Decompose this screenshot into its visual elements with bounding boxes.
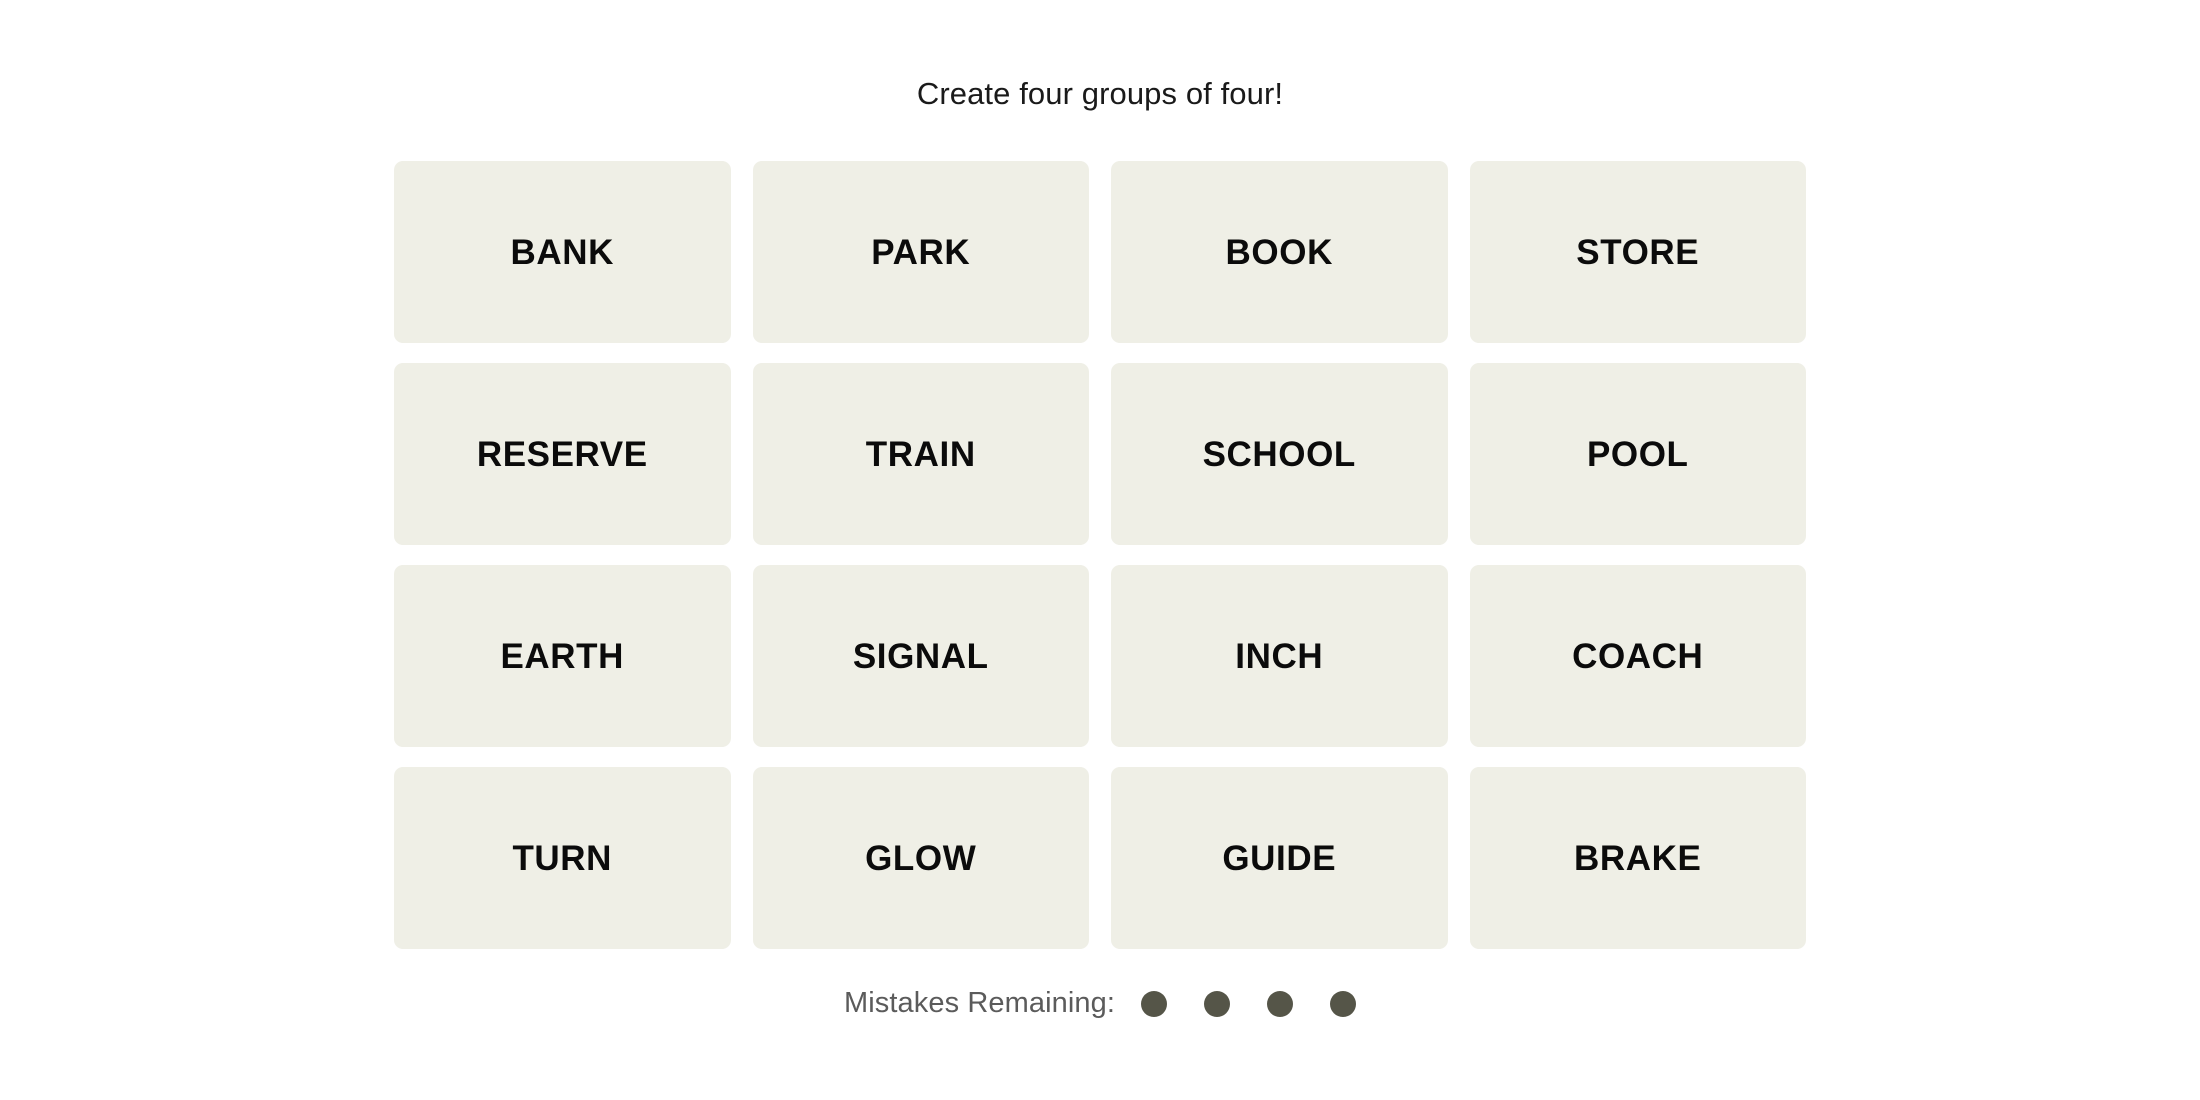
- word-tile[interactable]: EARTH: [394, 565, 731, 747]
- page-title: Create four groups of four!: [917, 78, 1283, 109]
- word-tile-label: BOOK: [1226, 235, 1333, 270]
- word-tile-label: PARK: [871, 235, 970, 270]
- word-tile[interactable]: TRAIN: [753, 363, 1090, 545]
- word-tile-label: SIGNAL: [853, 639, 989, 674]
- word-tile[interactable]: POOL: [1470, 363, 1807, 545]
- word-tile-label: TRAIN: [866, 437, 976, 472]
- word-tile-label: BRAKE: [1574, 841, 1701, 876]
- mistakes-remaining-bar: Mistakes Remaining:: [844, 989, 1356, 1018]
- word-tile-label: COACH: [1572, 639, 1703, 674]
- word-tile-label: GLOW: [865, 841, 976, 876]
- word-tile[interactable]: BRAKE: [1470, 767, 1807, 949]
- word-tile[interactable]: INCH: [1111, 565, 1448, 747]
- word-tile-label: EARTH: [500, 639, 624, 674]
- word-tile-label: BANK: [510, 235, 614, 270]
- word-tile[interactable]: PARK: [753, 161, 1090, 343]
- word-tile[interactable]: RESERVE: [394, 363, 731, 545]
- word-tile-label: GUIDE: [1222, 841, 1336, 876]
- word-tile-label: RESERVE: [477, 437, 648, 472]
- word-tile[interactable]: GLOW: [753, 767, 1090, 949]
- mistakes-dot-group: [1141, 991, 1356, 1017]
- word-tile-label: SCHOOL: [1203, 437, 1356, 472]
- mistake-dot: [1267, 991, 1293, 1017]
- word-tile[interactable]: STORE: [1470, 161, 1807, 343]
- word-tile[interactable]: GUIDE: [1111, 767, 1448, 949]
- mistake-dot: [1141, 991, 1167, 1017]
- word-tile-label: TURN: [512, 841, 612, 876]
- word-tile[interactable]: BANK: [394, 161, 731, 343]
- word-tile[interactable]: TURN: [394, 767, 731, 949]
- connections-game-page: Create four groups of four! BANK PARK BO…: [0, 0, 2200, 1100]
- word-grid: BANK PARK BOOK STORE RESERVE TRAIN SCHOO…: [394, 161, 1806, 949]
- word-tile[interactable]: COACH: [1470, 565, 1807, 747]
- mistakes-remaining-label: Mistakes Remaining:: [844, 989, 1115, 1018]
- mistake-dot: [1330, 991, 1356, 1017]
- word-tile[interactable]: SIGNAL: [753, 565, 1090, 747]
- mistake-dot: [1204, 991, 1230, 1017]
- word-tile-label: POOL: [1587, 437, 1689, 472]
- word-tile[interactable]: BOOK: [1111, 161, 1448, 343]
- word-tile[interactable]: SCHOOL: [1111, 363, 1448, 545]
- word-tile-label: INCH: [1235, 639, 1323, 674]
- word-tile-label: STORE: [1576, 235, 1699, 270]
